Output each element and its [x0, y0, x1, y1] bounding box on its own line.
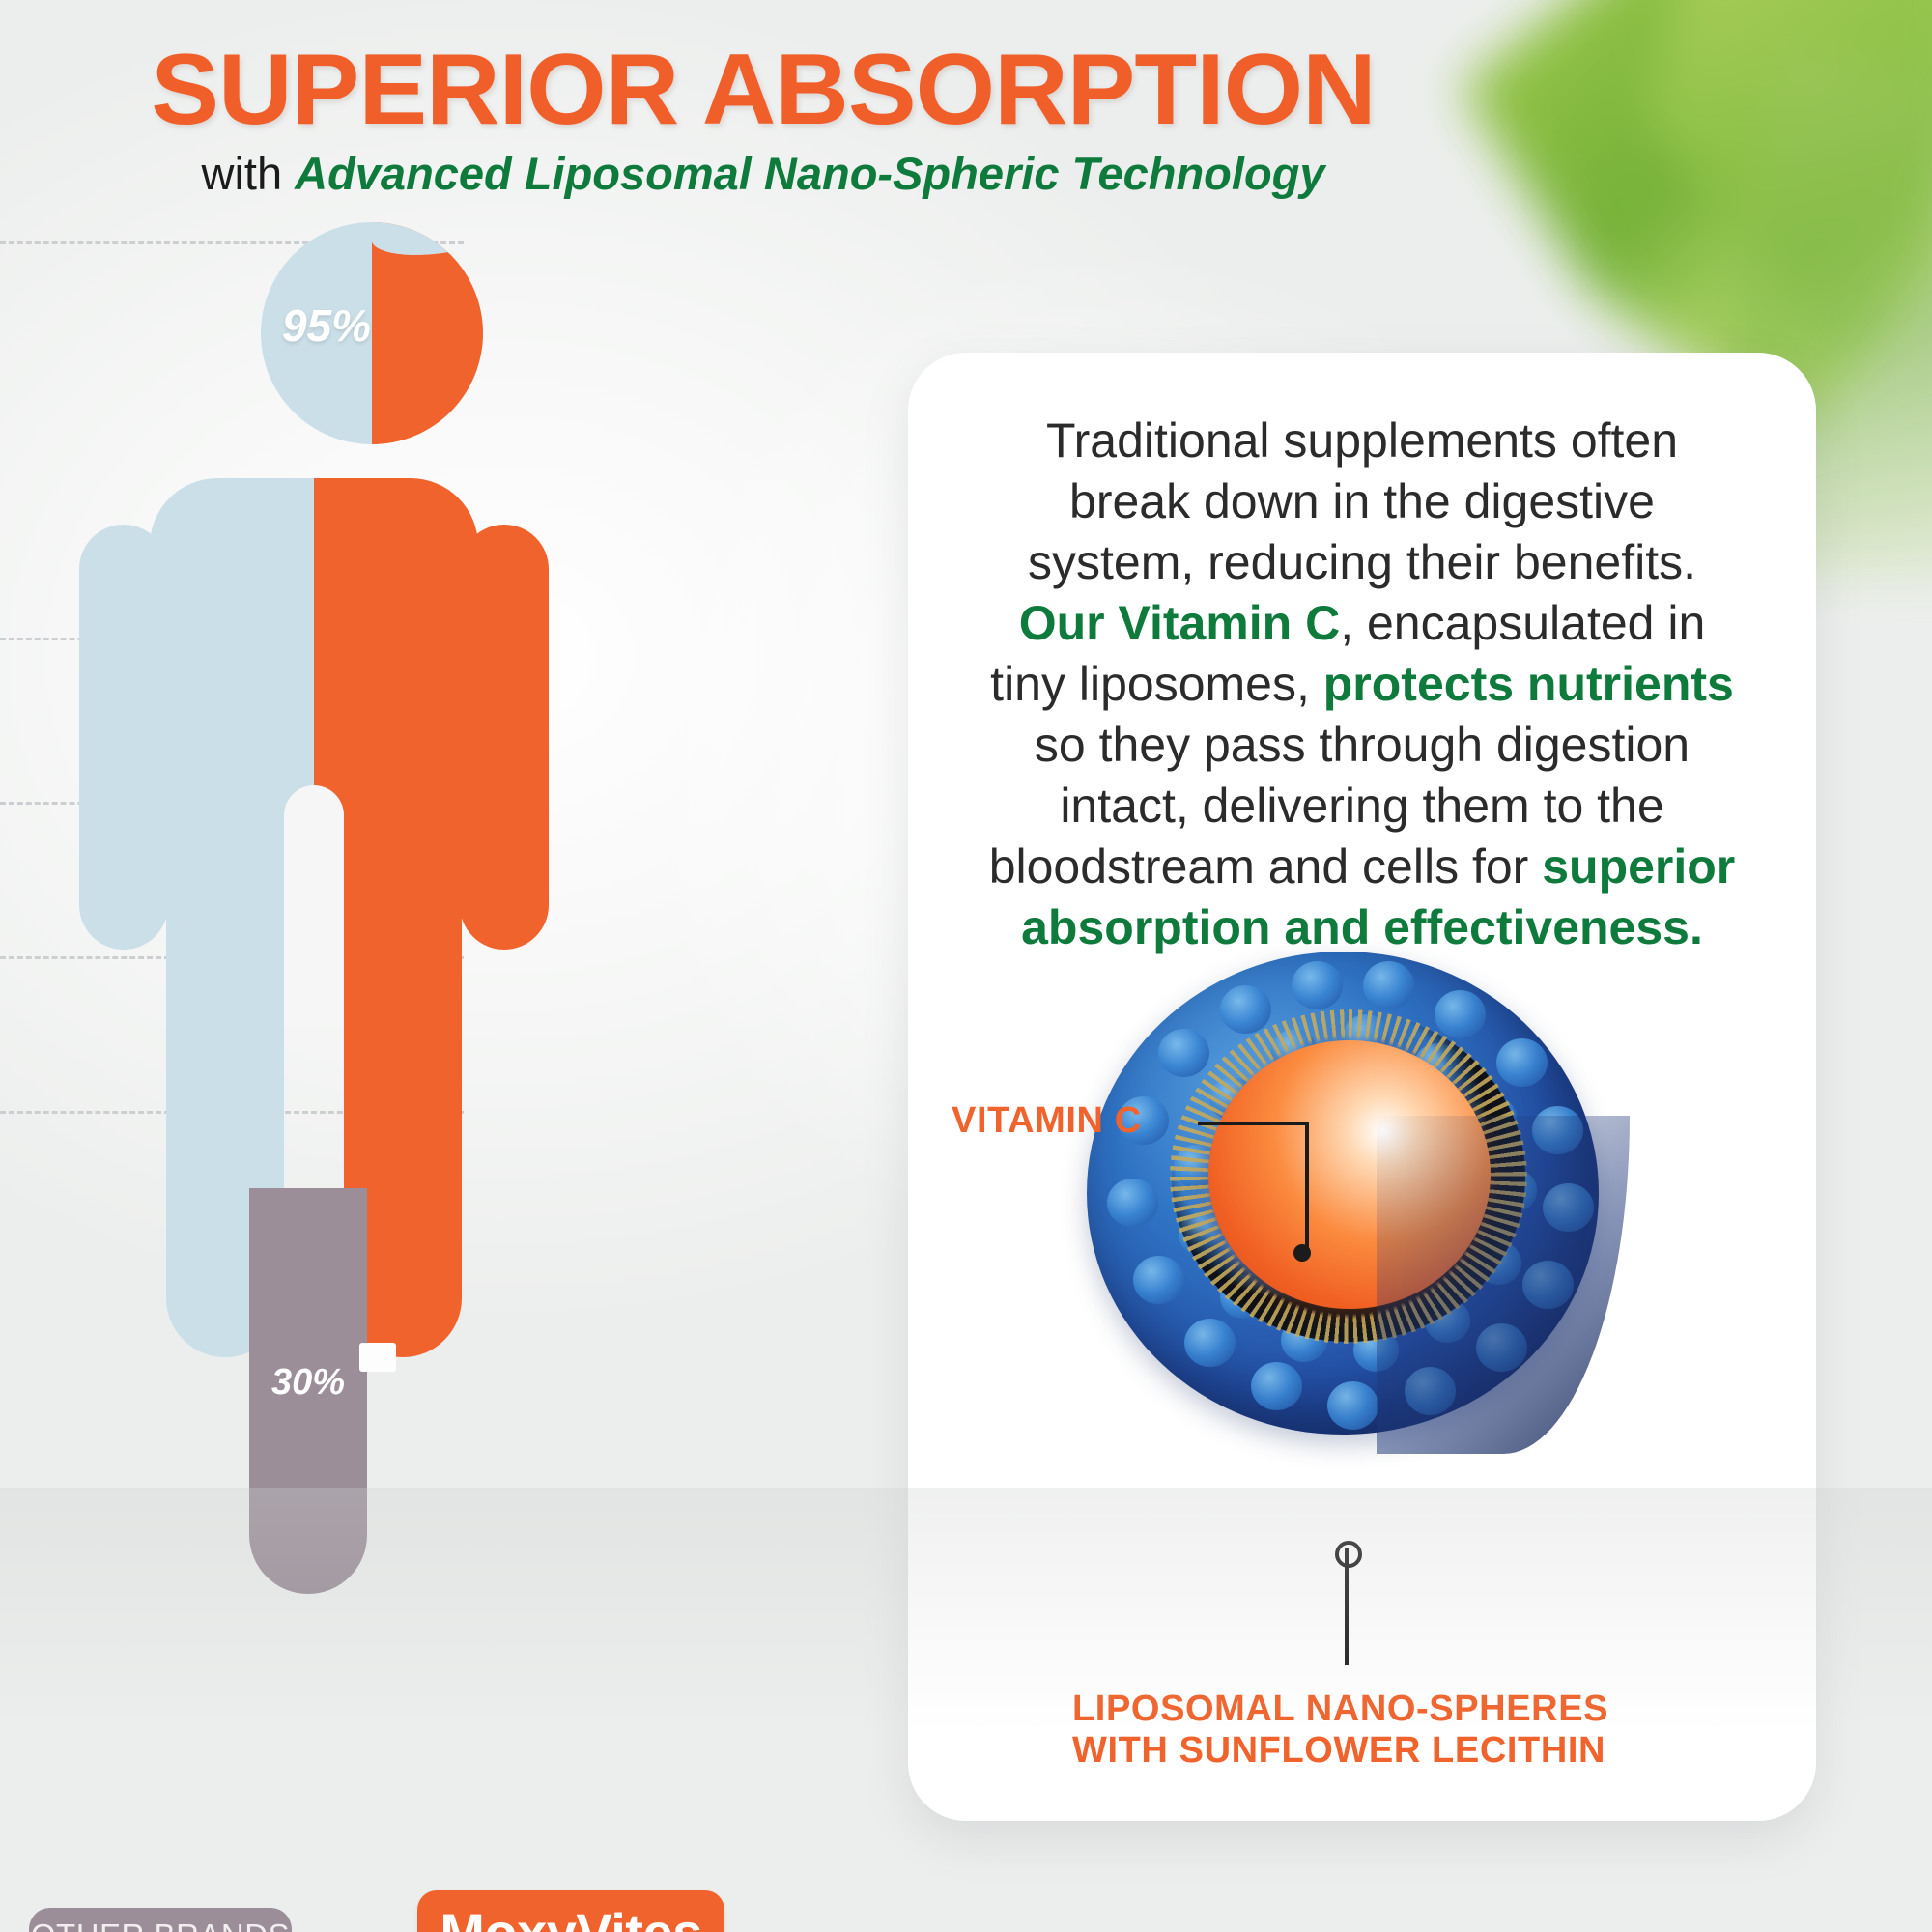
liposome-outer-shell — [1087, 952, 1599, 1435]
absorption-chart: 30% 95% OTHER BRANDS REGULAR VITAMIN C M… — [0, 222, 715, 1671]
legend-other-label: OTHER BRANDS — [31, 1918, 290, 1932]
page-subtitle: with Advanced Liposomal Nano-Spheric Tec… — [0, 147, 1526, 200]
label-liposome-line-1: LIPOSOMAL NANO-SPHERES — [1072, 1689, 1608, 1729]
subtitle-prefix: with — [202, 148, 296, 199]
liposome-illustration — [1058, 932, 1628, 1473]
copy-line-7: intact, delivering them to the — [1060, 779, 1663, 833]
legend-pill-moxyvites: MoxyVites — [417, 1890, 724, 1932]
label-liposome-line-2: WITH SUNFLOWER LECITHIN — [1072, 1730, 1605, 1771]
label-liposomal-nanospheres: LIPOSOMAL NANO-SPHERES WITH SUNFLOWER LE… — [1072, 1689, 1608, 1771]
liposome-vitamin-c-core — [1208, 1040, 1491, 1309]
copy-line-5: tiny liposomes, — [990, 657, 1323, 711]
legs-gap — [314, 785, 344, 1027]
chart-legend: OTHER BRANDS REGULAR VITAMIN C MoxyVites… — [0, 1908, 715, 1932]
subtitle-emphasis: Advanced Liposomal Nano-Spheric Technolo… — [295, 148, 1324, 199]
copy-line-4: , encapsulated in — [1340, 596, 1705, 650]
copy-line-1: Traditional supplements often — [1046, 413, 1678, 468]
value-label-95: 95% — [230, 299, 423, 352]
legs-gap — [284, 785, 314, 1027]
leader-line-vertical-2 — [1345, 1548, 1349, 1665]
card-copy: Traditional supplements often break down… — [947, 411, 1777, 958]
label-vitamin-c: VITAMIN C — [952, 1100, 1142, 1142]
leader-line-horizontal — [1198, 1122, 1309, 1125]
copy-highlight-our-vitamin-c: Our Vitamin C — [1019, 596, 1340, 650]
legend-moxy-label: MoxyVites — [440, 1901, 701, 1932]
legend-pill-other-brands: OTHER BRANDS — [29, 1908, 292, 1932]
copy-line-3: system, reducing their benefits. — [1028, 535, 1696, 589]
copy-highlight-superior: superior — [1542, 839, 1735, 894]
info-card: Traditional supplements often break down… — [908, 353, 1816, 1821]
leader-line-vertical — [1305, 1122, 1309, 1255]
arm-left — [79, 525, 168, 950]
page-title: SUPERIOR ABSORPTION — [0, 39, 1542, 141]
arm-right — [460, 525, 549, 950]
leaf-shape-2 — [1526, 0, 1932, 386]
copy-line-2: break down in the digestive — [1069, 474, 1655, 528]
leader-endpoint-dot — [1293, 1244, 1311, 1262]
leader-endpoint-circle — [1335, 1541, 1362, 1568]
copy-line-6: so they pass through digestion — [1035, 718, 1690, 772]
header: SUPERIOR ABSORPTION with Advanced Liposo… — [0, 39, 1526, 200]
infographic-canvas: SUPERIOR ABSORPTION with Advanced Liposo… — [0, 0, 1932, 1932]
value-label-30: 30% — [249, 1362, 367, 1404]
copy-line-8: bloodstream and cells for — [989, 839, 1543, 894]
copy-highlight-protects-nutrients: protects nutrients — [1323, 657, 1734, 711]
